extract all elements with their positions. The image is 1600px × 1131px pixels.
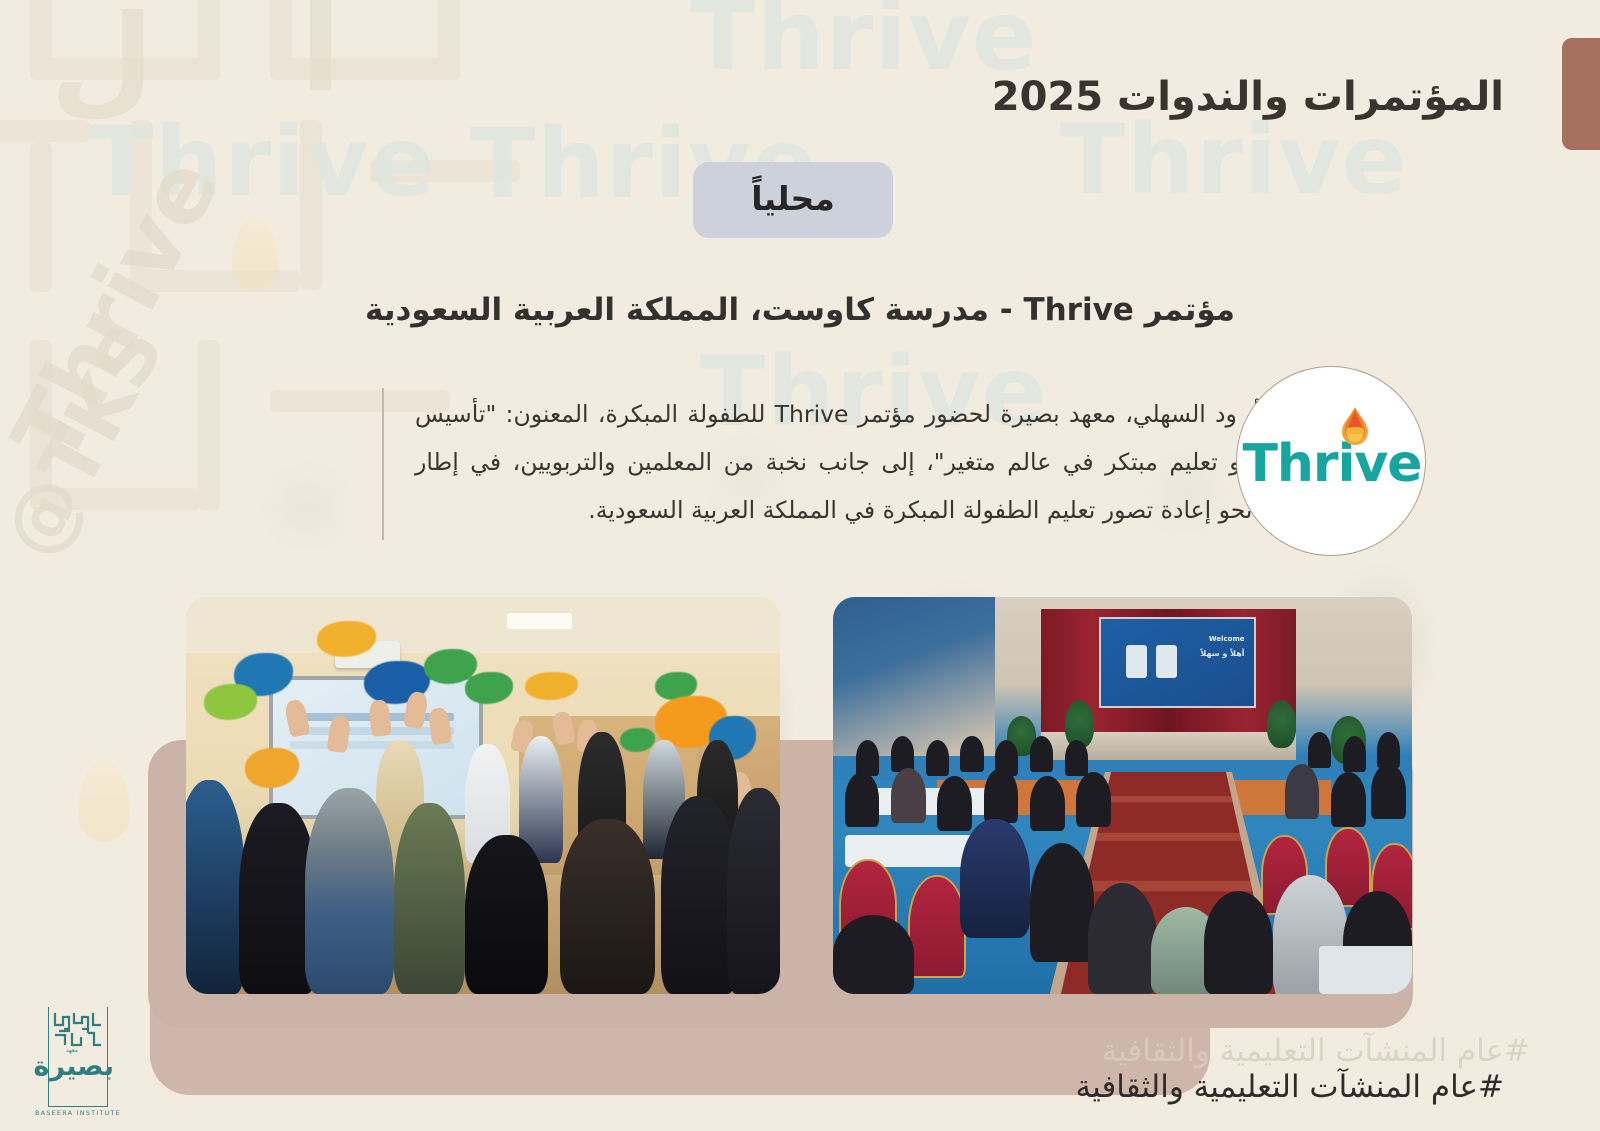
stage-screen: Welcome أهلاً و سهلاً — [1099, 617, 1255, 708]
corner-accent-bar — [1562, 38, 1600, 150]
baseera-arabic-script: بصيرة — [42, 1053, 114, 1080]
event-description-block: مثّلت أ. ود السهلي، معهد بصيرة لحضور مؤت… — [415, 390, 1320, 534]
page-title: المؤتمرات والندوات 2025 — [992, 74, 1504, 120]
baseera-institute-logo: معهد بصيرة BASEERA INSTITUTE — [26, 1007, 130, 1115]
watermark-thrive-3: Thrive — [690, 0, 1038, 92]
footer-hashtag-ghost: #عام المنشآت التعليمية والثقافية — [1102, 1033, 1530, 1069]
watermark-arabic-1: ل — [50, 0, 154, 129]
event-description: مثّلت أ. ود السهلي، معهد بصيرة لحضور مؤت… — [415, 390, 1320, 534]
thrive-logo: Thrive — [1236, 366, 1426, 556]
presentation-slide: Thrive Thrive Thrive Thrive Thrive Thriv… — [0, 0, 1600, 1131]
geometric-pattern-icon — [52, 1011, 104, 1049]
watermark-thrive-4: Thrive — [1060, 104, 1408, 216]
footer-hashtag: #عام المنشآت التعليمية والثقافية — [1076, 1069, 1504, 1105]
vertical-divider — [382, 388, 384, 540]
workshop-classroom-photo — [186, 597, 780, 994]
event-title: مؤتمر Thrive - مدرسة كاوست، المملكة العر… — [0, 292, 1600, 328]
screen-welcome-text: Welcome — [1209, 635, 1245, 643]
conference-hall-photo: Welcome أهلاً و سهلاً — [833, 597, 1412, 994]
scope-badge-label: محلياً — [751, 182, 835, 218]
screen-welcome-arabic: أهلاً و سهلاً — [1200, 649, 1244, 658]
watermark-arabic-2: ا — [300, 0, 341, 119]
thrive-wordmark: Thrive — [1242, 434, 1421, 494]
flame-droplet-icon — [1342, 407, 1368, 447]
baseera-subtitle: BASEERA INSTITUTE — [26, 1109, 130, 1117]
scope-badge: محلياً — [693, 162, 893, 238]
